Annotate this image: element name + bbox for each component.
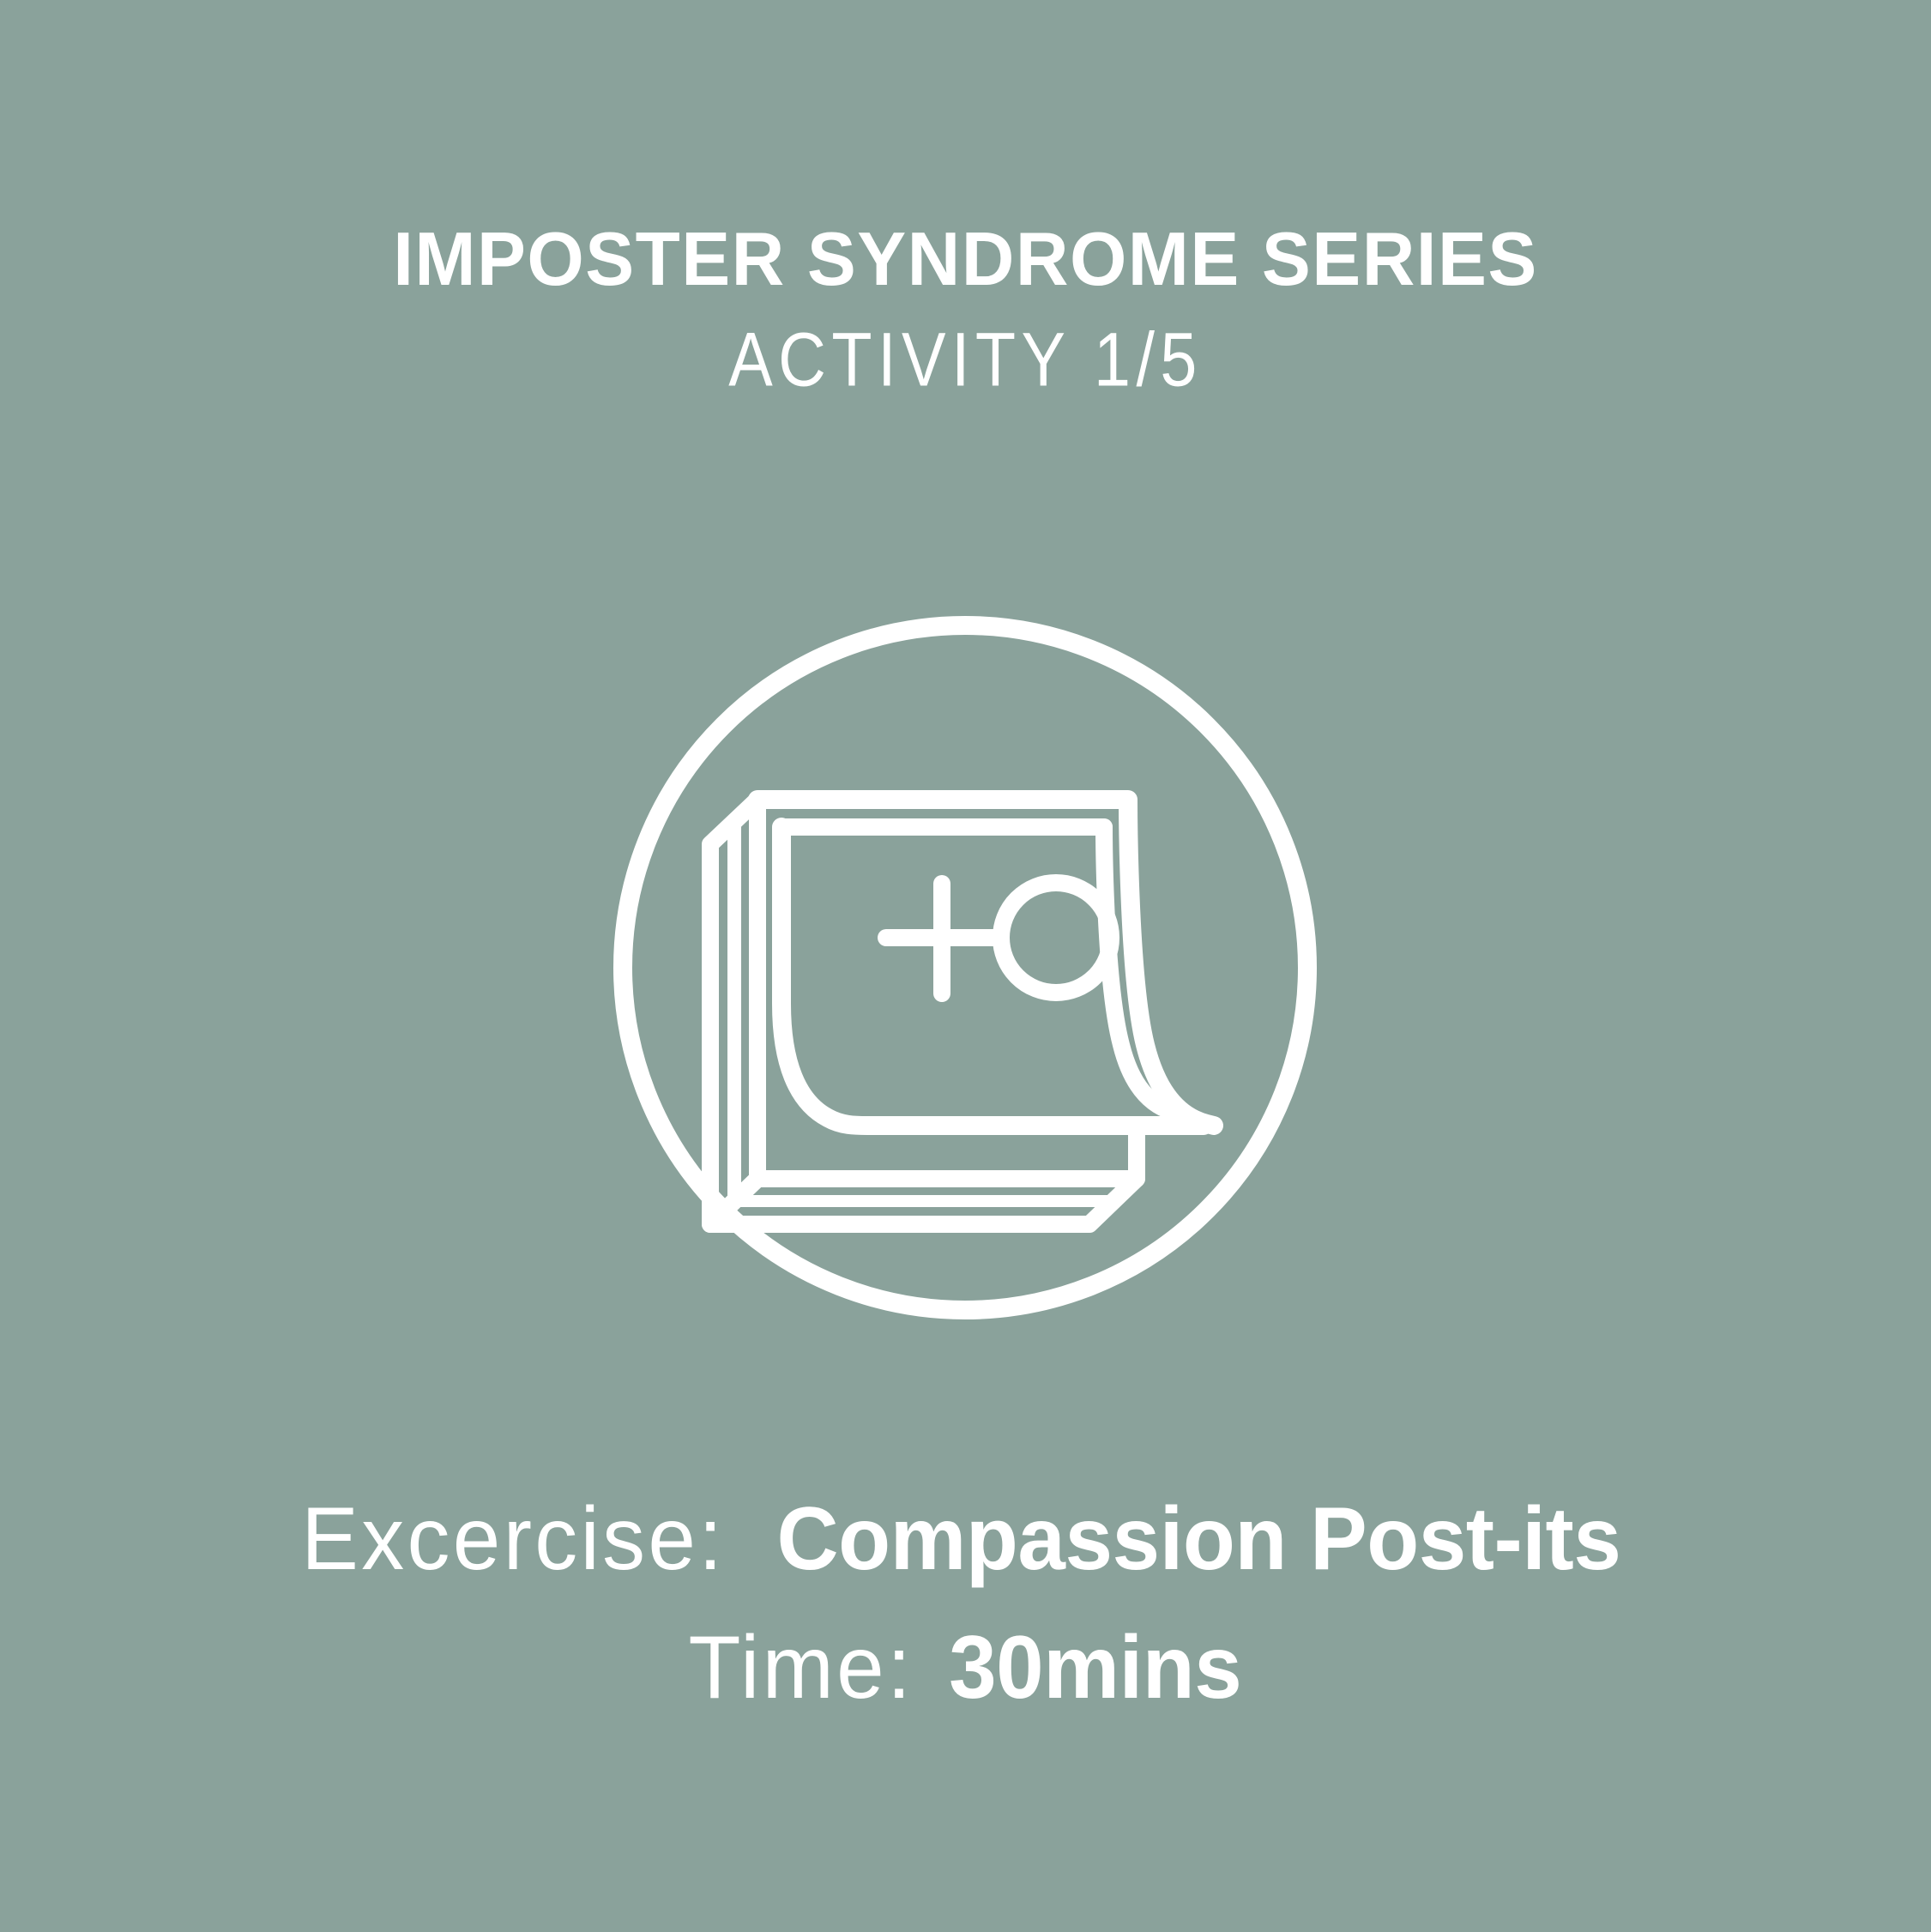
top-sheet-outline <box>757 800 1214 1126</box>
sticky-note-pad-icon-graphic <box>613 616 1317 1319</box>
activity-counter: ACTIVITY 1/5 <box>77 321 1854 397</box>
card-header: IMPOSTER SYNDROME SERIES ACTIVITY 1/5 <box>0 221 1931 393</box>
exercise-row: Excercise: Compassion Post-its <box>0 1494 1931 1584</box>
sticky-note-pad-icon <box>613 616 1317 1319</box>
activity-card: IMPOSTER SYNDROME SERIES ACTIVITY 1/5 <box>0 0 1931 1932</box>
exercise-value: Compassion Post-its <box>776 1494 1620 1584</box>
plus-icon <box>886 884 998 993</box>
time-row: Time: 30mins <box>0 1623 1931 1712</box>
page-title: IMPOSTER SYNDROME SERIES <box>29 221 1902 297</box>
circle-symbol-icon <box>1001 883 1111 993</box>
time-label: Time: <box>688 1623 914 1712</box>
time-value: 30mins <box>949 1623 1241 1712</box>
exercise-label: Excercise: <box>302 1494 726 1584</box>
card-footer: Excercise: Compassion Post-its Time: 30m… <box>0 1494 1931 1712</box>
